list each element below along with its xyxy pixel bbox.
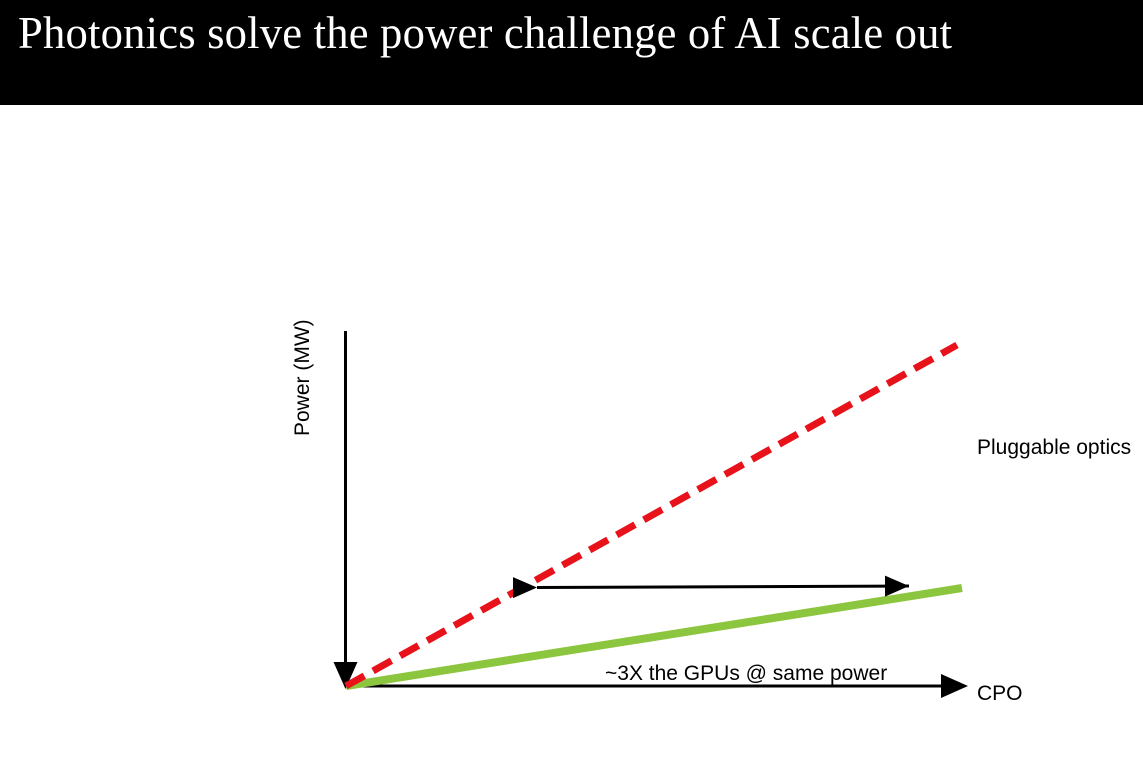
annotation-label-same-power: ~3X the GPUs @ same power (605, 662, 887, 686)
chart-svg (0, 105, 1143, 758)
chart-figure: Power (MW) # GPUs Pluggable optics CPO ~… (0, 105, 1143, 758)
series-label-cpo: CPO (977, 682, 1023, 706)
y-axis-label: Power (MW) (291, 319, 315, 436)
page-title: Photonics solve the power challenge of A… (18, 8, 1085, 58)
annotation-double-arrow (537, 586, 909, 588)
series-label-pluggable-optics: Pluggable optics (977, 436, 1131, 460)
slide-canvas: Photonics solve the power challenge of A… (0, 0, 1143, 758)
